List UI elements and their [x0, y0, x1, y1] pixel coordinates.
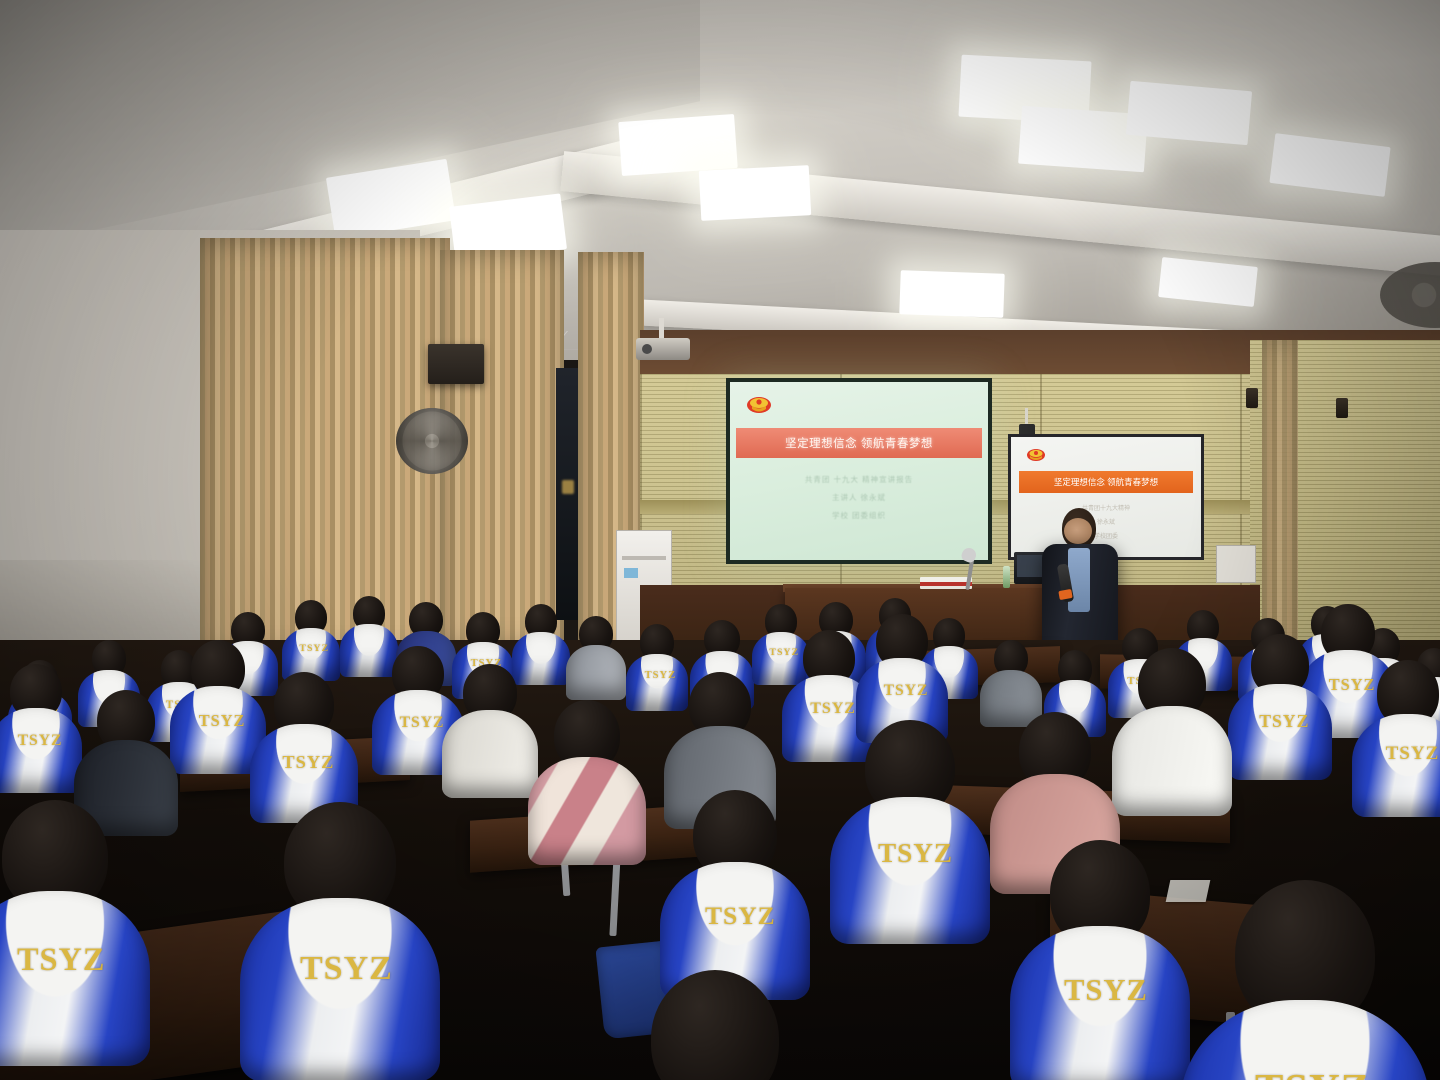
presenter-shirt: [1068, 548, 1090, 612]
uniform-logo: TSYZ: [1386, 743, 1440, 765]
monitor-subtitle-line: 学校团委: [1094, 531, 1118, 540]
uniform-logo: TSYZ: [1329, 675, 1376, 695]
ceiling-panel-light: [1158, 257, 1258, 307]
wall-control-plate: [1216, 545, 1256, 583]
uniform-logo: TSYZ: [18, 732, 63, 750]
student-jacket: [528, 757, 646, 866]
monitor-title-bar: 坚定理想信念 领航青春梦想: [1019, 471, 1193, 493]
student-jacket: [1112, 706, 1232, 816]
student-jacket: [980, 670, 1042, 727]
ceiling-panel-light: [1126, 81, 1252, 145]
communist-youth-league-emblem: [744, 394, 774, 420]
student-jacket: [566, 645, 626, 700]
ceiling-panel-light: [699, 165, 811, 221]
student-uniform: [626, 654, 688, 711]
slide-title: 坚定理想信念 领航青春梦想: [785, 435, 933, 451]
monitor-subtitle-line: 共青团十九大精神: [1082, 503, 1130, 512]
uniform-logo: TSYZ: [199, 711, 246, 731]
presenter-face: [1064, 518, 1092, 544]
uniform-logo: TSYZ: [769, 647, 799, 658]
uniform-logo: TSYZ: [300, 950, 393, 988]
monitor-screen: 坚定理想信念 领航青春梦想 共青团十九大精神 徐永斌 学校团委: [1011, 437, 1201, 557]
projection-screen: 坚定理想信念 领航青春梦想 共青团 十九大 精神宣讲报告 主讲人 徐永斌 学校 …: [726, 378, 992, 564]
wall-fan-left: [396, 408, 468, 474]
uniform-logo: TSYZ: [400, 714, 445, 732]
slide-subtitle-block: 共青团 十九大 精神宣讲报告 主讲人 徐永斌 学校 团委组织: [730, 474, 988, 521]
slide-subtitle-line: 学校 团委组织: [832, 510, 886, 521]
student-uniform: [830, 797, 990, 944]
curtain-right: [1262, 340, 1298, 660]
uniform-logo: TSYZ: [645, 670, 677, 681]
uniform-logo: TSYZ: [1064, 973, 1148, 1008]
projector-mount-pole: [659, 318, 664, 340]
monitor-title: 坚定理想信念 领航青春梦想: [1054, 476, 1158, 488]
ceiling-panel-light: [899, 270, 1004, 318]
monitor-subtitle-block: 共青团十九大精神 徐永斌 学校团委: [1011, 503, 1201, 540]
wall-sconce: [1246, 388, 1258, 408]
student-jacket: [442, 710, 538, 798]
student-uniform: [0, 708, 82, 793]
student-uniform: [1352, 714, 1440, 817]
uniform-logo: TSYZ: [282, 752, 334, 773]
ceiling-panel-light: [618, 114, 737, 176]
slide-title-bar: 坚定理想信念 领航青春梦想: [736, 428, 982, 458]
monitor-subtitle-line: 徐永斌: [1097, 517, 1115, 526]
fan-blades: [396, 408, 468, 474]
uniform-logo: TSYZ: [1259, 711, 1309, 732]
uniform-logo: TSYZ: [705, 901, 776, 931]
slide-subtitle-line: 共青团 十九大 精神宣讲报告: [805, 474, 913, 485]
communist-youth-league-emblem: [1025, 447, 1047, 466]
uniform-logo: TSYZ: [17, 941, 105, 978]
wall-speaker: [428, 344, 484, 384]
uniform-logo: TSYZ: [878, 838, 953, 869]
student-uniform: [752, 632, 810, 685]
wall-sconce: [1336, 398, 1348, 418]
water-bottle: [1003, 566, 1010, 588]
uniform-logo: TSYZ: [810, 700, 856, 718]
student-uniform: [0, 891, 150, 1066]
uniform-logo: TSYZ: [1255, 1065, 1370, 1080]
student-uniform: [240, 898, 440, 1080]
worksheet: [1166, 880, 1211, 902]
ac-vent: [622, 556, 666, 560]
student-uniform: [512, 632, 570, 685]
window-light-glint: [562, 480, 574, 494]
screen-surface: 坚定理想信念 领航青春梦想 共青团 十九大 精神宣讲报告 主讲人 徐永斌 学校 …: [730, 382, 988, 560]
slide-subtitle-line: 主讲人 徐永斌: [832, 492, 886, 503]
ac-display-panel: [624, 568, 638, 578]
wall-monitor: 坚定理想信念 领航青春梦想 共青团十九大精神 徐永斌 学校团委: [1008, 434, 1204, 560]
uniform-logo: TSYZ: [884, 682, 929, 700]
uniform-logo: TSYZ: [299, 643, 329, 654]
lecture-hall-photo: 坚定理想信念 领航青春梦想 共青团 十九大 精神宣讲报告 主讲人 徐永斌 学校 …: [0, 0, 1440, 1080]
stacked-books: [920, 577, 972, 589]
projector-lens: [642, 344, 652, 354]
ceiling-panel-light: [1269, 133, 1390, 197]
student-uniform: [340, 624, 398, 677]
